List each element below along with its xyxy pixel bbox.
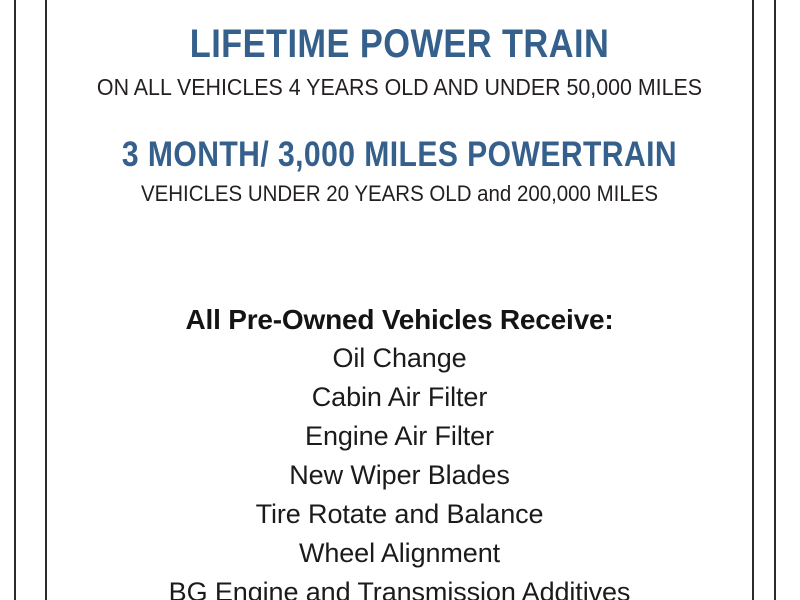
- warranty-block-three-month: 3 MONTH/ 3,000 MILES POWERTRAIN VEHICLES…: [47, 137, 752, 205]
- list-item: Wheel Alignment: [47, 534, 752, 573]
- warranty-headline-lifetime: LIFETIME POWER TRAIN: [96, 24, 702, 64]
- border-rule-right-outer: [774, 0, 776, 600]
- list-item: Oil Change: [47, 339, 752, 378]
- warranty-headline-three-month: 3 MONTH/ 3,000 MILES POWERTRAIN: [96, 137, 702, 172]
- warranty-subhead-three-month: VEHICLES UNDER 20 YEARS OLD and 200,000 …: [72, 183, 728, 205]
- list-item: Engine Air Filter: [47, 417, 752, 456]
- list-item: BG Engine and Transmission Additives: [47, 573, 752, 600]
- border-rule-right-inner: [752, 0, 754, 600]
- list-item: Cabin Air Filter: [47, 378, 752, 417]
- border-rule-left-outer: [14, 0, 16, 600]
- flyer-page: LIFETIME POWER TRAIN ON ALL VEHICLES 4 Y…: [0, 0, 800, 600]
- list-item: New Wiper Blades: [47, 456, 752, 495]
- flyer-content: LIFETIME POWER TRAIN ON ALL VEHICLES 4 Y…: [47, 0, 752, 600]
- list-item: Tire Rotate and Balance: [47, 495, 752, 534]
- services-title: All Pre-Owned Vehicles Receive:: [47, 300, 752, 339]
- services-section: All Pre-Owned Vehicles Receive: Oil Chan…: [47, 300, 752, 600]
- warranty-subhead-lifetime: ON ALL VEHICLES 4 YEARS OLD AND UNDER 50…: [72, 76, 728, 99]
- warranty-block-lifetime: LIFETIME POWER TRAIN ON ALL VEHICLES 4 Y…: [47, 24, 752, 99]
